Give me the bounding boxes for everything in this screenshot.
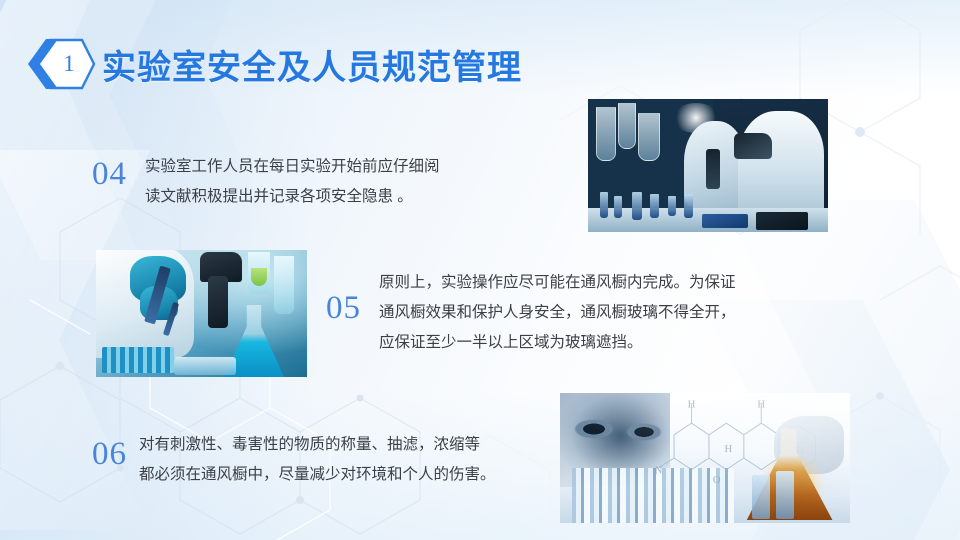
item-text-line: 读文献积极提出并记录各项安全隐患 。 [145, 182, 440, 212]
page-title: 实验室安全及人员规范管理 [102, 40, 522, 89]
item-number: 05 [326, 292, 361, 325]
item-number: 04 [92, 158, 127, 191]
photo2-glassware-right [274, 256, 294, 314]
section-number-badge: 1 [24, 38, 98, 90]
photo1-scientist-right [738, 111, 824, 219]
photo1-vial-4 [650, 194, 659, 218]
photo1-tray [702, 214, 748, 228]
item-text-line: 对有刺激性、毒害性的物质的称量、抽滤，浓缩等 [139, 430, 496, 460]
photo1-vial-5 [668, 196, 676, 216]
pipette-flask-photo [96, 250, 307, 377]
scientists-microscope-photo [588, 99, 828, 232]
photo1-vial-2 [614, 196, 622, 218]
molecule-amber-flask-photo: HH HH NOO [560, 393, 850, 523]
list-item: 04 实验室工作人员在每日实验开始前应仔细阅 读文献积极提出并记录各项安全隐患 … [92, 152, 440, 212]
photo1-clipboard [756, 212, 808, 230]
photo1-vial-3 [632, 192, 642, 220]
slide-canvas: 1 实验室安全及人员规范管理 [0, 0, 960, 540]
list-item: 06 对有刺激性、毒害性的物质的称量、抽滤，浓缩等 都必须在通风橱中，尽量减少对… [92, 430, 496, 490]
item-text-line: 应保证至少一半以上区域为玻璃遮挡。 [379, 328, 736, 358]
photo1-vial-6 [684, 194, 693, 218]
list-item: 05 原则上，实验操作应尽可能在通风橱内完成。为保证 通风橱效果和保护人身安全，… [326, 268, 736, 358]
item-text-line: 原则上，实验操作应尽可能在通风橱内完成。为保证 [379, 268, 736, 298]
photo1-microscope-stand [706, 149, 720, 189]
photo1-glassware-a [596, 107, 616, 161]
item-text: 对有刺激性、毒害性的物质的称量、抽滤，浓缩等 都必须在通风橱中，尽量减少对环境和… [139, 430, 496, 490]
photo3-highlight-wash [560, 393, 850, 523]
badge-number-label: 1 [50, 38, 88, 90]
item-number: 06 [92, 438, 127, 471]
photo2-well-plate [102, 347, 174, 373]
photo2-green-liquid [251, 268, 267, 286]
item-text: 原则上，实验操作应尽可能在通风橱内完成。为保证 通风橱效果和保护人身安全，通风橱… [379, 268, 736, 358]
photo1-glassware-c [638, 113, 660, 161]
item-text-line: 都必须在通风橱中，尽量减少对环境和个人的伤害。 [139, 460, 496, 490]
photo1-microscope [734, 133, 772, 159]
item-text-line: 通风橱效果和保护人身安全，通风橱玻璃不得全开， [379, 298, 736, 328]
photo2-microscope-body [208, 276, 228, 328]
item-text: 实验室工作人员在每日实验开始前应仔细阅 读文献积极提出并记录各项安全隐患 。 [145, 152, 440, 212]
photo2-bench-glass [174, 357, 236, 375]
item-text-line: 实验室工作人员在每日实验开始前应仔细阅 [145, 152, 440, 182]
photo1-glassware-b [618, 103, 636, 149]
photo1-vial-1 [600, 192, 608, 218]
slide-title-row: 1 实验室安全及人员规范管理 [24, 36, 522, 92]
